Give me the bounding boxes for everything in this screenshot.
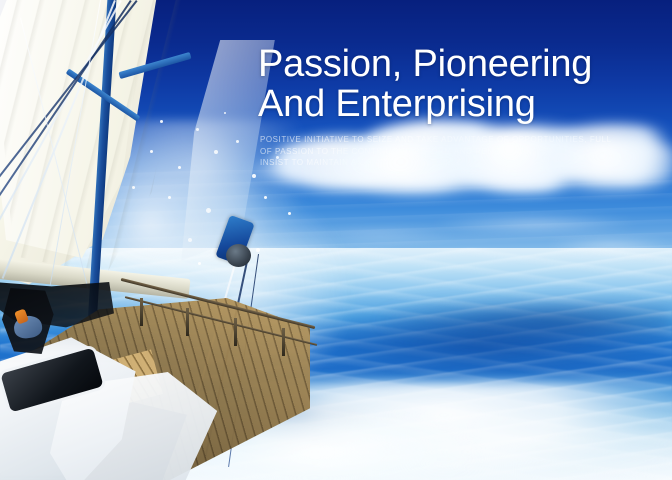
railing-post	[140, 298, 143, 326]
railing-post	[234, 318, 237, 346]
rigging-block-hub	[226, 244, 251, 267]
railing-post	[282, 328, 285, 356]
subcopy-block: POSITIVE INITIATIVE TO SEIZE AND TAKE AD…	[260, 134, 650, 169]
headline-text: Passion, Pioneering And Enterprising	[258, 44, 658, 124]
subcopy-line-3: INSIST TO MAINTAIN A CONSISTENT, FLEXIBL…	[260, 157, 650, 169]
railing-post	[186, 308, 189, 336]
subcopy-line-2: OF PASSION TO THE CONTINUOUS REFORM AND …	[260, 146, 650, 158]
hero-banner: Passion, Pioneering And Enterprising POS…	[0, 0, 672, 480]
subcopy-line-1: POSITIVE INITIATIVE TO SEIZE AND TAKE AD…	[260, 134, 650, 146]
